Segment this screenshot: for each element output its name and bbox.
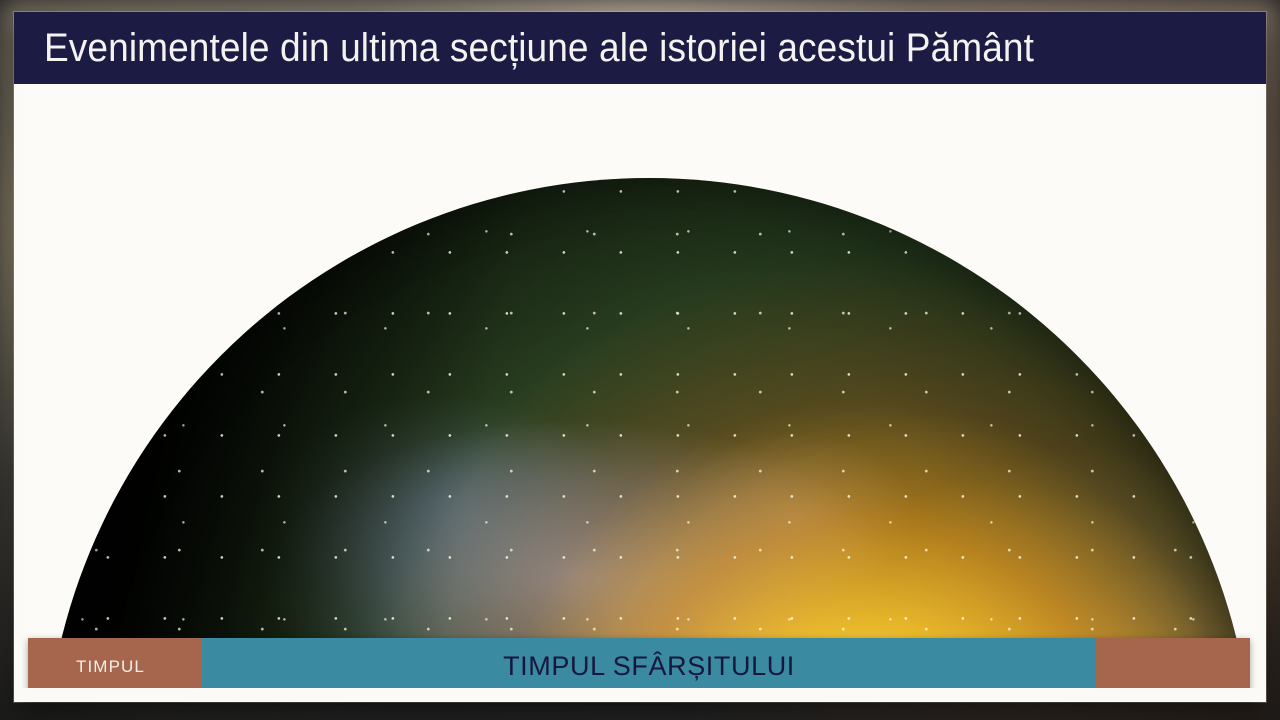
slide-stage: Evenimentele din ultima secțiune ale ist…	[0, 0, 1280, 720]
timeline-bar: TIMPUL TIMPUL SFÂRȘITULUI	[28, 638, 1250, 695]
title-banner: Evenimentele din ultima secțiune ale ist…	[14, 12, 1266, 84]
timeline-segment-timpul-sfarsitului[interactable]: TIMPUL SFÂRȘITULUI	[202, 638, 1096, 695]
timeline-segment-timpul[interactable]: TIMPUL	[28, 638, 202, 695]
timeline-segment-label: TIMPUL	[76, 657, 145, 677]
earth-globe-image	[44, 178, 1254, 688]
earth-inner-shading	[44, 178, 1254, 688]
timeline-segment-label: TIMPUL SFÂRȘITULUI	[503, 651, 795, 682]
slide-image	[24, 88, 1256, 688]
page-title: Evenimentele din ultima secțiune ale ist…	[44, 28, 1034, 68]
slide-frame: Evenimentele din ultima secțiune ale ist…	[14, 12, 1266, 702]
slide-bottom-strip	[14, 688, 1266, 702]
timeline-segment-trailing[interactable]	[1096, 638, 1250, 695]
